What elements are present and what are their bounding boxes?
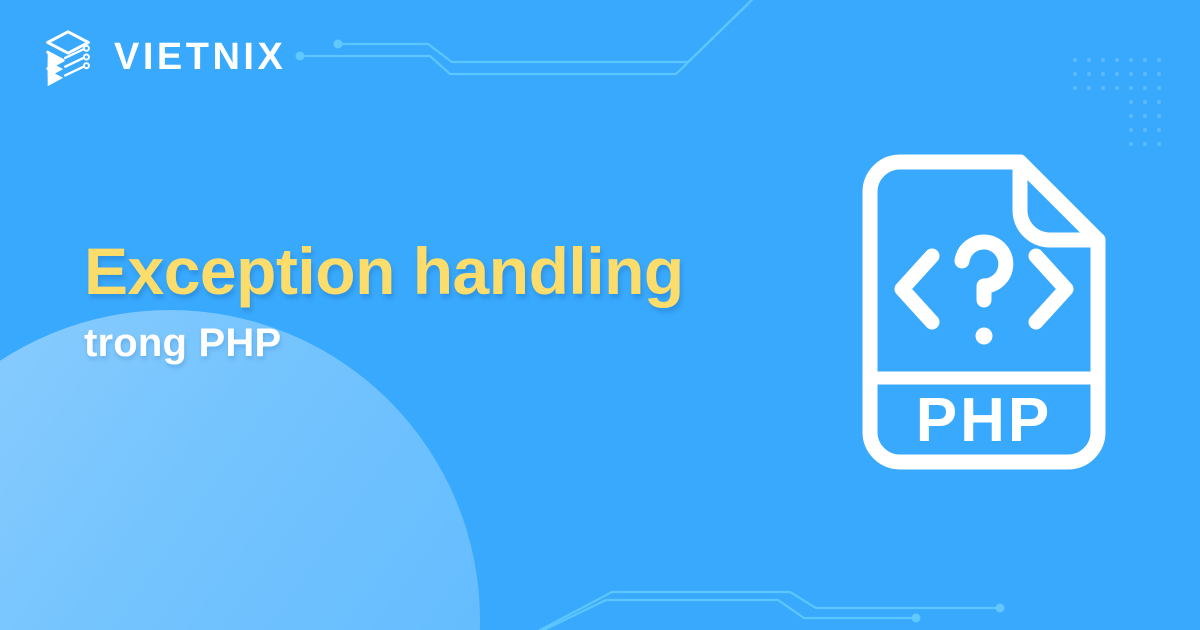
brand-wordmark: VIETNIX — [114, 38, 286, 76]
circuit-node-icon — [296, 52, 305, 61]
stacked-layers-icon — [38, 26, 100, 88]
php-file-label: PHP — [916, 386, 1052, 455]
page-title: Exception handling — [84, 236, 844, 307]
page-subtitle: trong PHP — [84, 321, 844, 365]
circuit-node-icon — [996, 604, 1005, 613]
circuit-node-icon — [912, 614, 921, 623]
headline-block: Exception handling trong PHP — [84, 236, 844, 365]
dot-grid-decoration — [1072, 57, 1164, 149]
php-file-icon: PHP — [856, 148, 1112, 476]
banner-canvas: VIETNIX Exception handling trong PHP PHP — [0, 0, 1200, 630]
brand-logo[interactable]: VIETNIX — [38, 26, 286, 88]
circuit-node-icon — [334, 40, 343, 49]
